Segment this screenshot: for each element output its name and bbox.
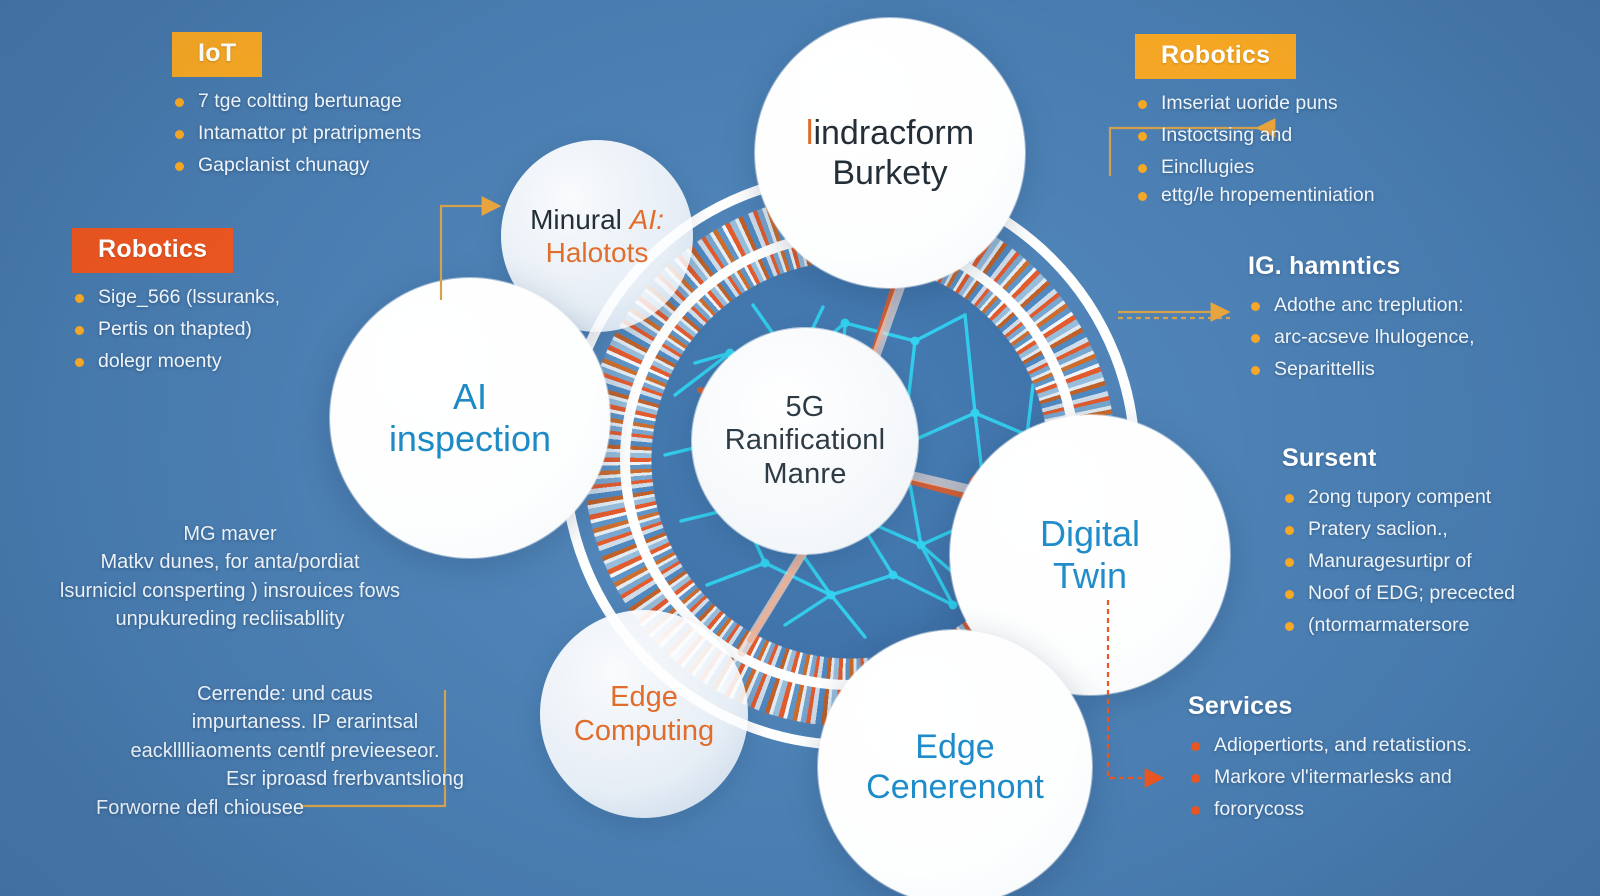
panel-robotics-right-header: Robotics [1135,34,1296,79]
bubble-neural-line2: Halotots [546,237,649,268]
panel-iot: IoT 7 tge coltting bertunage Intamattor … [172,32,502,185]
list-item: Manuragesurtipr of [1282,549,1597,574]
list-item: Gapclanist chunagy [172,153,502,178]
panel-robotics-left-bullets: Sige_566 (lssuranks, Pertis on thapted) … [72,285,372,374]
list-item: fororycoss [1188,797,1588,822]
panel-semantics-bullets: Adothe anc treplution: arc-acseve lhulog… [1248,293,1578,382]
bubble-edge-component[interactable]: Edge Cenerenont [818,630,1092,896]
bubble-ai-line1: AI [453,376,487,417]
list-item: (ntormarmatersore [1282,613,1597,638]
hub-line3: Manre [763,458,846,490]
list-item: Pertis on thapted) [72,317,372,342]
free-text-line: unpukureding recliisabllity [10,605,450,633]
panel-services-bullets: Adiopertiorts, and retatistions. Markore… [1188,733,1588,822]
list-item: 2ong tupory compent [1282,485,1597,510]
bubble-ec-line2: Computing [574,715,714,747]
panel-services-header: Services [1188,692,1588,721]
panel-robotics-right-bullets: Imseriat uoride puns Instoctsing and Ein… [1135,91,1475,208]
free-text-line: lsurnicicl consperting ) insrouices fows [10,577,450,605]
free-text-line: impurtaness. IP erarintsal [40,708,530,736]
list-item: Intamattor pt pratripments [172,121,502,146]
panel-iot-header: IoT [172,32,262,77]
bubble-platform-line1b: indracform [813,114,974,152]
panel-robotics-left: Robotics Sige_566 (lssuranks, Pertis on … [72,228,372,381]
list-item: 7 tge coltting bertunage [172,89,502,114]
bubble-edge-computing[interactable]: Edge Computing [540,610,748,818]
bubble-ec-line1: Edge [610,681,678,713]
bubble-hub-5g[interactable]: 5G Ranificationl Manre [692,328,918,554]
free-text-line: Esr iproasd frerbvantsliong [40,765,530,793]
list-item: dolegr moenty [72,349,372,374]
list-item: Instoctsing and [1135,123,1475,148]
free-text-line: Forworne defl chiousee [40,794,530,822]
panel-sursent: Sursent 2ong tupory compent Pratery sacl… [1282,444,1597,645]
free-text-line: MG maver [10,520,450,548]
list-item: Adiopertiorts, and retatistions. [1188,733,1588,758]
panel-services: Services Adiopertiorts, and retatistions… [1188,692,1588,829]
bubble-platform-line2: Burkety [832,154,947,192]
list-item: Separittellis [1248,357,1578,382]
bubble-ecomp-line2: Cenerenont [866,768,1044,806]
free-text-block-one: MG maver Matkv dunes, for anta/pordiat l… [10,520,450,634]
bubble-neural-line1b: AI: [630,204,664,235]
free-text-line: eacklllliaoments centlf previeeseor. [40,737,530,765]
bubble-ecomp-line1: Edge [915,728,994,766]
bubble-ai-line2: inspection [389,418,551,459]
free-text-line: Matkv dunes, for anta/pordiat [10,548,450,576]
free-text-line: Cerrende: und caus [40,680,530,708]
bubble-dt-line2: Twin [1053,555,1127,596]
list-item: Noof of EDG; precected [1282,581,1597,606]
panel-iot-bullets: 7 tge coltting bertunage Intamattor pt p… [172,89,502,178]
list-item: Eincllugies [1135,155,1475,180]
hub-line2: Ranificationl [725,424,886,456]
list-item: Imseriat uoride puns [1135,91,1475,116]
panel-robotics-right: Robotics Imseriat uoride puns Instoctsin… [1135,34,1475,215]
list-item: ettg/le hropementiniation [1135,183,1475,208]
list-item: Markore vl'itermarlesks and [1188,765,1588,790]
list-item: Pratery saclion., [1282,517,1597,542]
bubble-neural-line1: Minural [530,204,622,235]
panel-sursent-bullets: 2ong tupory compent Pratery saclion., Ma… [1282,485,1597,638]
list-item: Sige_566 (lssuranks, [72,285,372,310]
bubble-ai-inspection[interactable]: AI inspection [330,278,610,558]
free-text-block-two: Cerrende: und caus impurtaness. IP erari… [40,680,530,822]
panel-semantics: IG. hamntics Adothe anc treplution: arc-… [1248,252,1578,389]
list-item: Adothe anc treplution: [1248,293,1578,318]
panel-robotics-left-header: Robotics [72,228,233,273]
bubble-platform[interactable]: lindracform Burkety [755,18,1025,288]
panel-sursent-header: Sursent [1282,444,1597,473]
list-item: arc-acseve lhulogence, [1248,325,1578,350]
hub-line1: 5G [785,391,824,423]
bubble-dt-line1: Digital [1040,513,1140,554]
infographic-canvas: Minural AI: Halotots lindracform Burkety… [0,0,1600,896]
panel-semantics-header: IG. hamntics [1248,252,1578,281]
